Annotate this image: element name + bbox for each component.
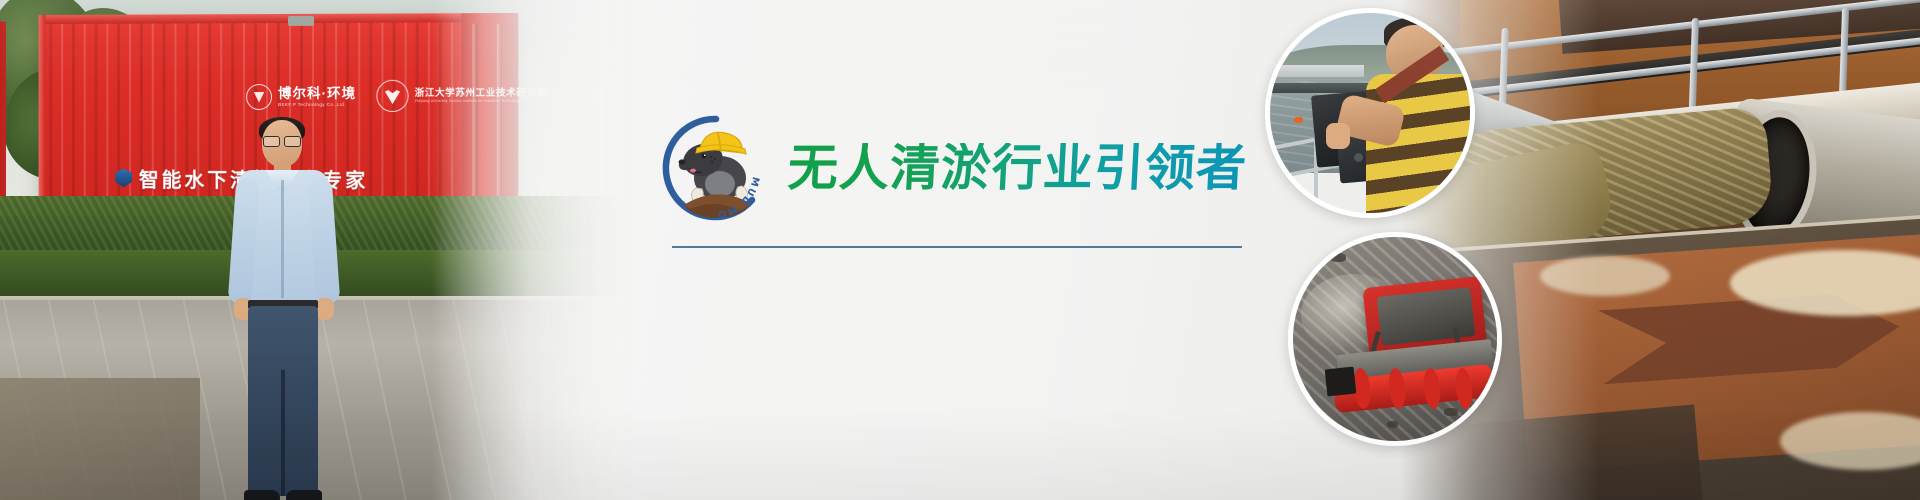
shirt-placket	[281, 180, 284, 298]
hand	[1326, 123, 1351, 149]
operator-figure	[1366, 25, 1475, 213]
brand-name-cn: 博尔科·环境	[278, 87, 356, 101]
university-emblem-icon	[376, 80, 408, 112]
brand-text-block: 博尔科·环境 BEKF.P Technology Co.,Ltd.	[278, 87, 356, 108]
debris	[1444, 408, 1458, 416]
container-left-edge	[39, 15, 46, 211]
container-brand-logo-1: 博尔科·环境 BEKF.P Technology Co.,Ltd.	[246, 84, 356, 110]
glasses-icon	[263, 136, 301, 145]
orange-buoy	[1294, 117, 1303, 123]
slogan-block: 无人清淤行业引领者	[788, 143, 1247, 193]
mud-mole-logo: MUD MOLE	[660, 112, 772, 224]
shield-badge-icon	[115, 169, 132, 188]
dredging-robot-circle-photo	[1288, 232, 1502, 446]
left-photo-fade	[430, 0, 640, 500]
brand-emblem-icon	[246, 84, 272, 110]
left-container-photo: 博尔科·环境 BEKF.P Technology Co.,Ltd. 浙江大学苏州…	[0, 0, 640, 500]
slogan-divider	[672, 246, 1242, 248]
control-joystick	[1354, 153, 1363, 162]
right-hand	[316, 298, 334, 320]
operator-control-circle-photo	[1265, 8, 1475, 218]
slogan-text: 无人清淤行业引领者	[787, 143, 1249, 193]
robot-machinery	[1376, 287, 1474, 345]
trouser-seam	[281, 370, 285, 496]
container-corner-fitting	[288, 16, 314, 26]
dirt-patch	[0, 378, 200, 500]
end-housing	[1324, 366, 1355, 395]
debris	[1330, 253, 1346, 262]
foam-patch	[1540, 256, 1670, 296]
container-end-face	[0, 18, 6, 198]
hero-banner: 博尔科·环境 BEKF.P Technology Co.,Ltd. 浙江大学苏州…	[0, 0, 1920, 500]
engineer-figure	[232, 120, 336, 500]
brand-name-en: BEKF.P Technology Co.,Ltd.	[278, 103, 356, 108]
debris	[1387, 421, 1398, 428]
right-shoe	[286, 490, 322, 500]
left-shoe	[244, 490, 280, 500]
center-content: MUD MOLE 无人清淤行业引领者	[660, 0, 1280, 500]
